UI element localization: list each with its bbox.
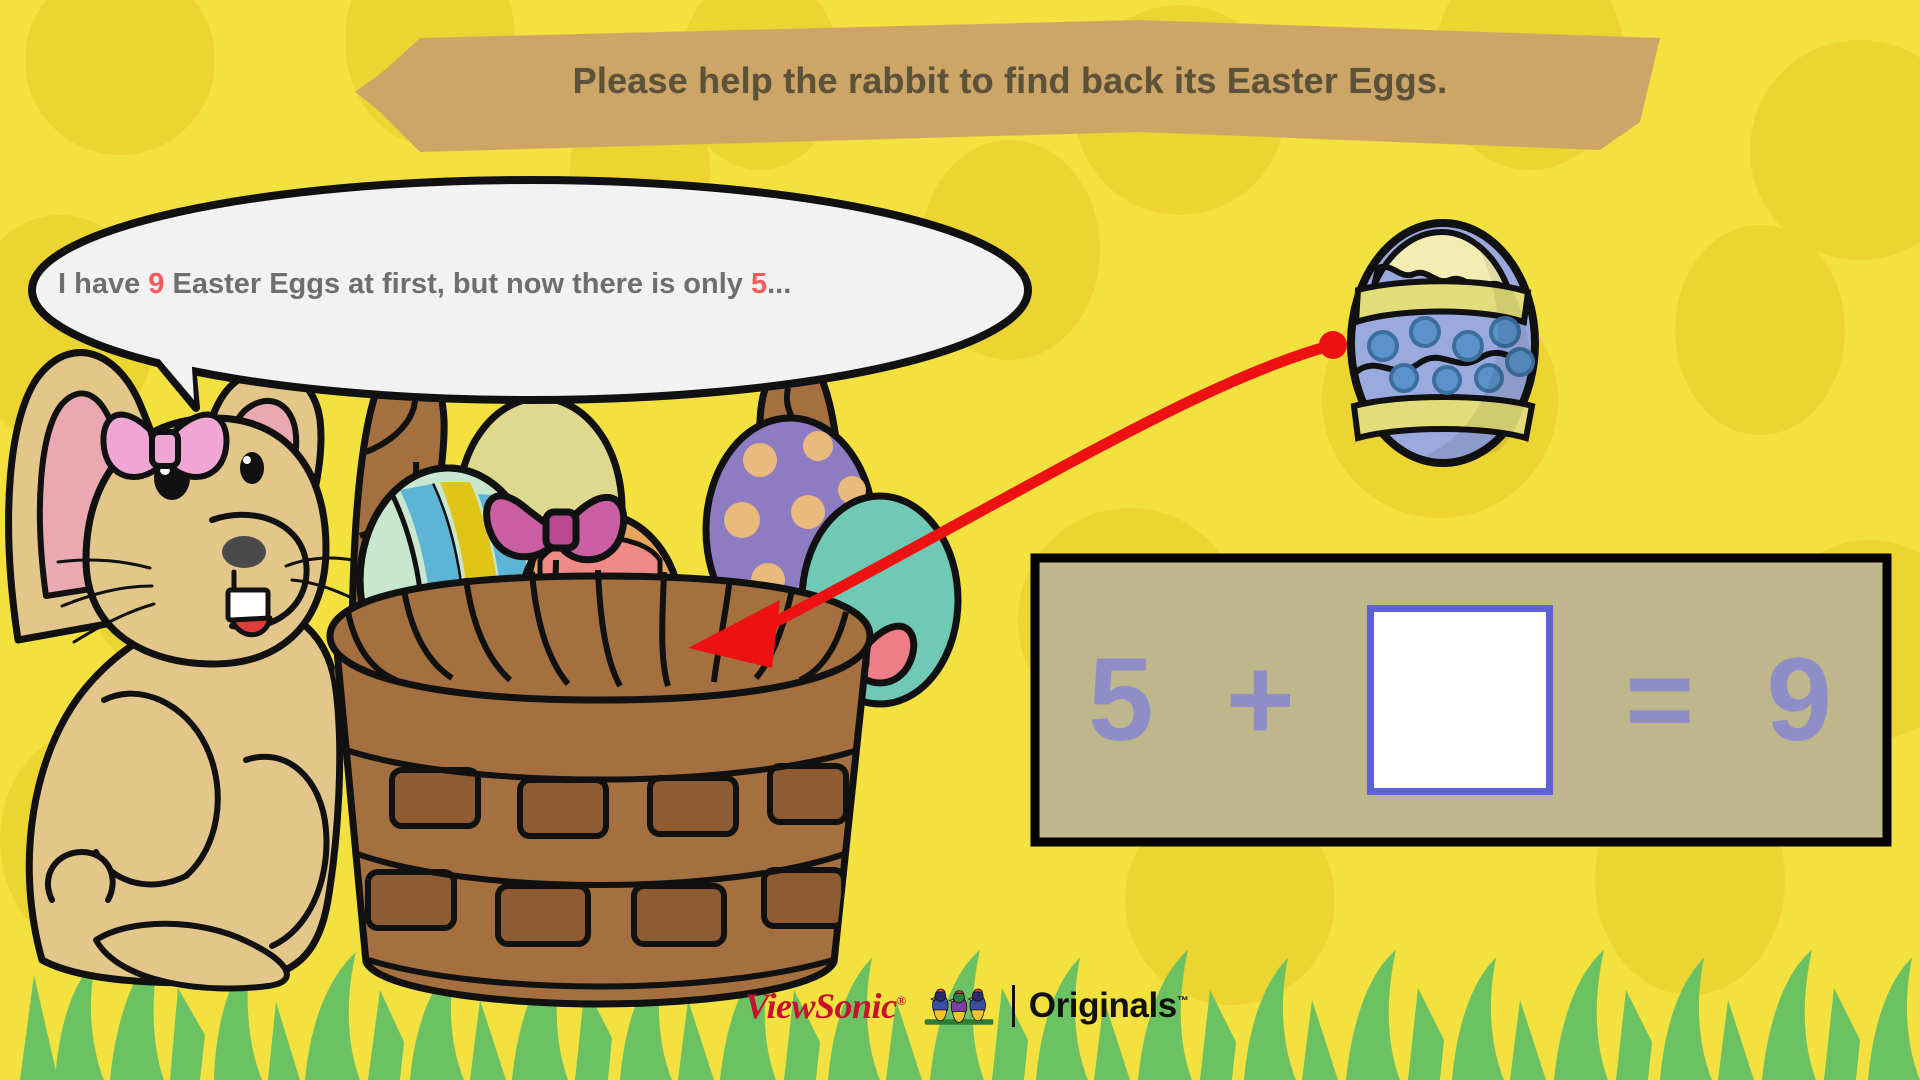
bubble-text-part-3: ... — [767, 268, 791, 300]
originals-text: Originals — [1029, 986, 1177, 1025]
equation-addend-1: 5 — [1088, 641, 1154, 759]
speech-bubble-text: I have 9 Easter Eggs at first, but now t… — [58, 268, 818, 301]
registered-mark-icon: ® — [897, 993, 906, 1008]
equals-sign-icon: = — [1625, 641, 1694, 759]
viewsonic-originals-logo: ViewSonic® — [745, 975, 1188, 1037]
bubble-text-part-2: Easter Eggs at first, but now there is o… — [164, 268, 751, 300]
equation-sum: 9 — [1766, 641, 1832, 759]
answer-drop-box[interactable] — [1367, 605, 1553, 795]
logo-divider — [1012, 985, 1015, 1027]
bubble-count-now: 5 — [751, 268, 767, 300]
activity-canvas: Please help the rabbit to find back its … — [0, 0, 1920, 1080]
bubble-count-first: 9 — [148, 268, 164, 300]
bubble-text-part-1: I have — [58, 268, 148, 300]
trademark-mark-icon: ™ — [1177, 993, 1189, 1007]
plus-sign-icon: + — [1226, 641, 1295, 759]
equation-panel-shape — [0, 0, 1920, 1080]
viewsonic-brand-text: ViewSonic — [745, 986, 897, 1026]
originals-wordmark: Originals™ — [1029, 986, 1189, 1026]
equation-row: 5 + = 9 — [1040, 560, 1880, 840]
gouldian-finches-icon — [920, 983, 998, 1029]
viewsonic-wordmark: ViewSonic® — [745, 988, 906, 1024]
